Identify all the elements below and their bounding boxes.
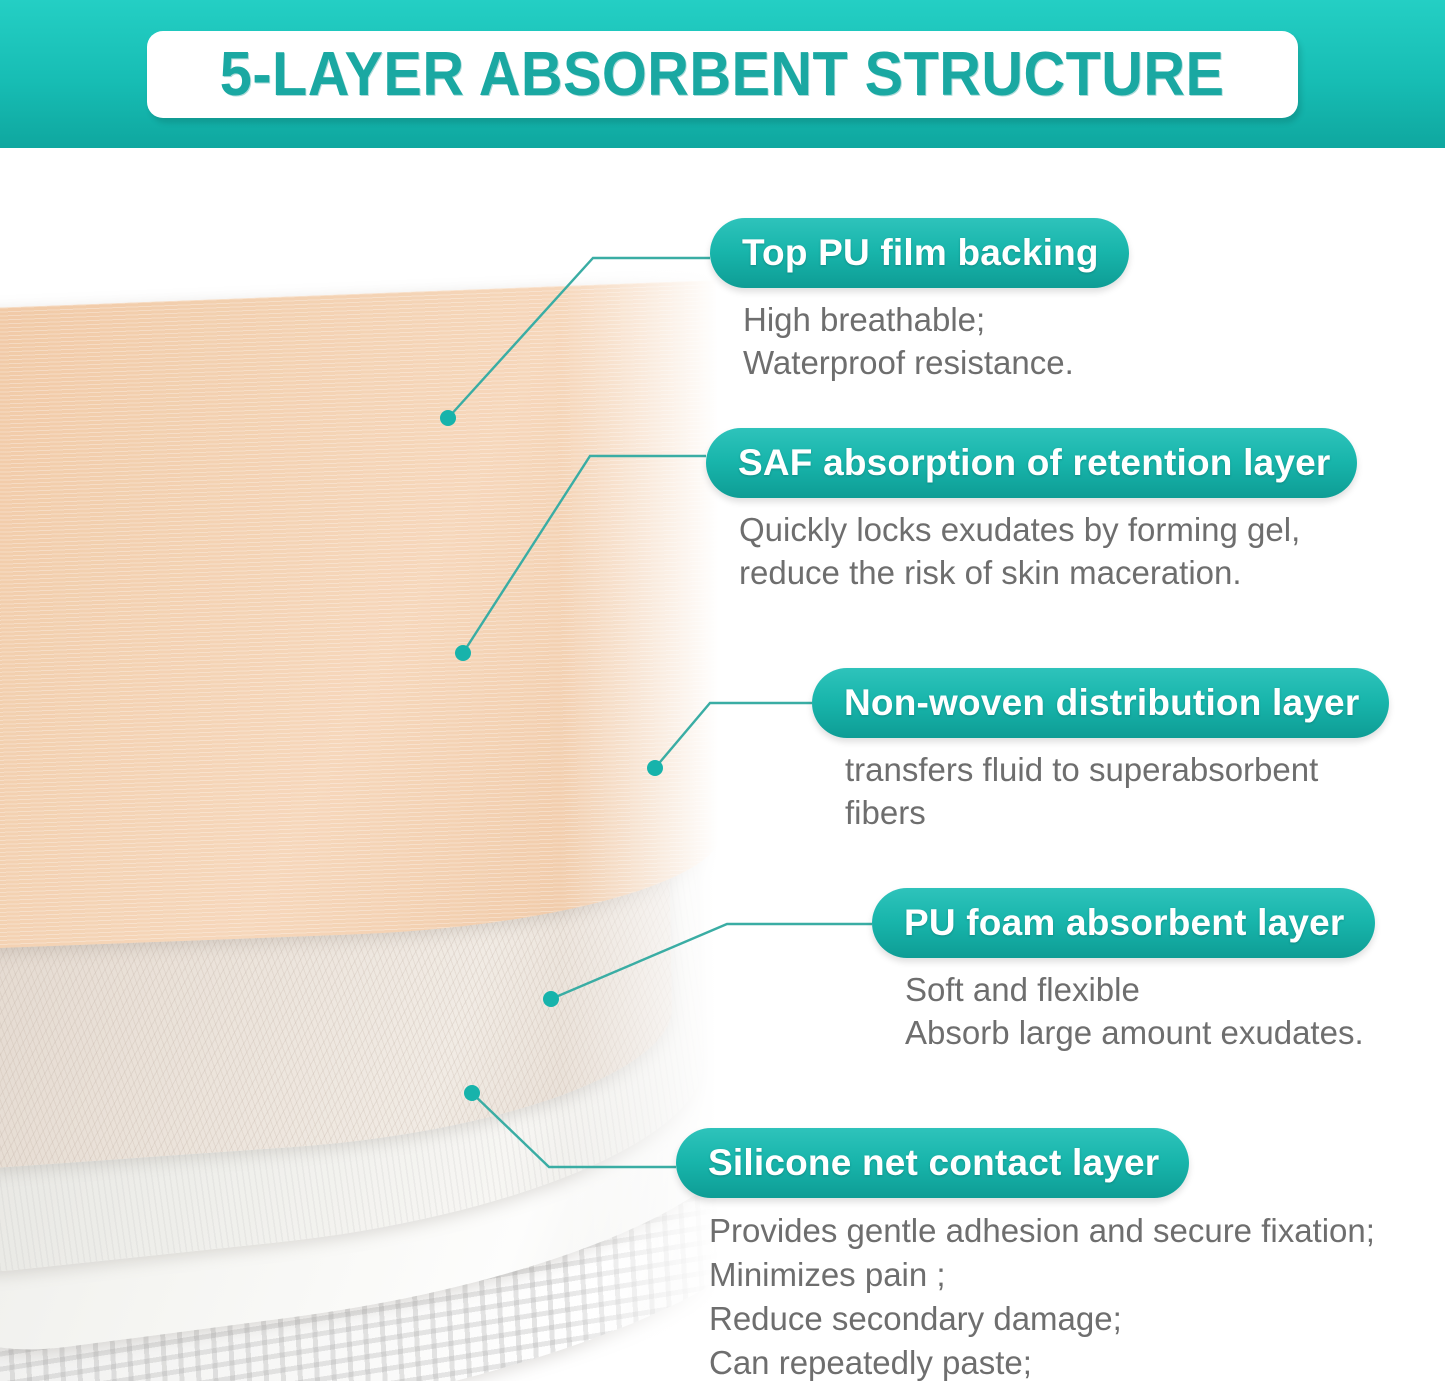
callout-description: transfers fluid to superabsorbent fibers bbox=[812, 749, 1389, 835]
callout-label-pill: PU foam absorbent layer bbox=[872, 888, 1375, 958]
callout-description: Provides gentle adhesion and secure fixa… bbox=[676, 1209, 1375, 1381]
callout-label-pill: Top PU film backing bbox=[710, 218, 1129, 288]
product-layer-stack-image bbox=[0, 148, 760, 1381]
callout-label-pill: SAF absorption of retention layer bbox=[706, 428, 1357, 498]
callout-saf-absorption-of-retention-layer: SAF absorption of retention layer Quickl… bbox=[706, 428, 1357, 595]
callout-pu-foam-absorbent-layer: PU foam absorbent layer Soft and flexibl… bbox=[872, 888, 1375, 1055]
callout-non-woven-distribution-layer: Non-woven distribution layer transfers f… bbox=[812, 668, 1389, 835]
product-layer-pu-film bbox=[0, 280, 724, 956]
callout-label-pill: Silicone net contact layer bbox=[676, 1128, 1189, 1198]
page-title: 5-LAYER ABSORBENT STRUCTURE bbox=[220, 39, 1225, 110]
callout-description: High breathable; Waterproof resistance. bbox=[710, 299, 1129, 385]
title-plate: 5-LAYER ABSORBENT STRUCTURE bbox=[147, 31, 1298, 118]
callout-label-pill: Non-woven distribution layer bbox=[812, 668, 1389, 738]
header-band: 5-LAYER ABSORBENT STRUCTURE bbox=[0, 0, 1445, 148]
callout-silicone-net-contact-layer: Silicone net contact layer Provides gent… bbox=[676, 1128, 1375, 1381]
callout-description: Quickly locks exudates by forming gel, r… bbox=[706, 509, 1357, 595]
callout-top-pu-film-backing: Top PU film backing High breathable; Wat… bbox=[710, 218, 1129, 385]
infographic-page: 5-LAYER ABSORBENT STRUCTURE Top PU film … bbox=[0, 0, 1445, 1381]
callout-description: Soft and flexible Absorb large amount ex… bbox=[872, 969, 1375, 1055]
